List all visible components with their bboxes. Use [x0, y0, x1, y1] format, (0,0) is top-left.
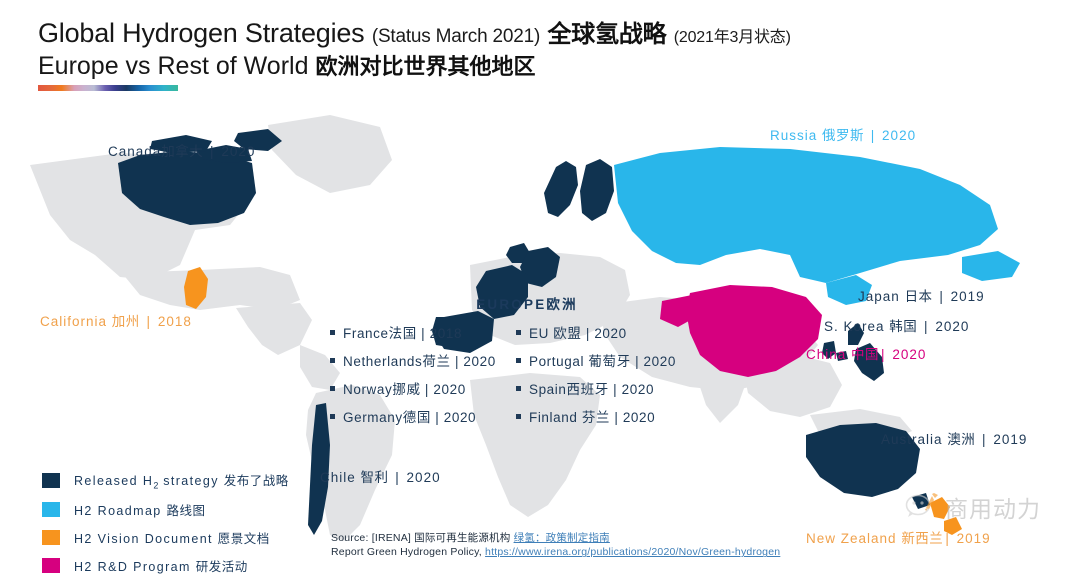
bullet-icon — [330, 330, 335, 335]
bullet-icon — [330, 414, 335, 419]
europe-column-1: France法国 | 2018 Netherlands荷兰 | 2020 Nor… — [330, 322, 506, 426]
map-label-japan: Japan 日本 | 2019 — [858, 285, 985, 305]
page-subtitle: Europe vs Rest of World 欧洲对比世界其他地区 — [38, 51, 1038, 81]
subtitle-cn: 欧洲对比世界其他地区 — [315, 54, 535, 79]
legend-swatch-vision — [42, 530, 60, 545]
europe-item-spain: Spain西班牙 | 2020 — [516, 378, 690, 398]
bullet-icon — [330, 358, 335, 363]
title-main-cn: 全球氢战略 — [547, 21, 666, 48]
legend-item-rnd-program: H2 R&D Program 研发活动 — [42, 556, 289, 575]
legend-item-released-strategy: Released H2 strategy 发布了战略 — [42, 470, 289, 491]
legend-swatch-roadmap — [42, 502, 60, 517]
source-line-1: Source: [IRENA] 国际可再生能源机构 绿氢：政策制定指南 — [331, 531, 780, 545]
map-label-south-korea: S. Korea 韩国 | 2020 — [824, 315, 969, 335]
europe-item-france: France法国 | 2018 — [330, 322, 506, 342]
map-label-china: China 中国| 2020 — [806, 343, 926, 363]
accent-gradient-bar — [38, 85, 178, 91]
europe-item-portugal: Portugal 葡萄牙 | 2020 — [516, 350, 690, 370]
map-region-roadmap — [614, 147, 1020, 305]
legend: Released H2 strategy 发布了战略 H2 Roadmap 路线… — [42, 470, 289, 584]
page-title: Global Hydrogen Strategies (Status March… — [38, 18, 1038, 50]
bullet-icon — [330, 386, 335, 391]
legend-item-roadmap: H2 Roadmap 路线图 — [42, 500, 289, 519]
map-label-california: California 加州 | 2018 — [40, 310, 192, 330]
map-label-new-zealand: New Zealand 新西兰| 2019 — [806, 527, 991, 547]
title-main-en: Global Hydrogen Strategies — [38, 18, 365, 48]
legend-swatch-rnd — [42, 558, 60, 573]
bullet-icon — [516, 386, 521, 391]
source-link-url[interactable]: https://www.irena.org/publications/2020/… — [485, 546, 780, 558]
europe-item-finland: Finland 芬兰 | 2020 — [516, 406, 690, 426]
map-label-russia: Russia 俄罗斯 | 2020 — [770, 124, 916, 144]
bullet-icon — [516, 414, 521, 419]
bullet-icon — [516, 330, 521, 335]
subtitle-en: Europe vs Rest of World — [38, 52, 308, 80]
map-label-canada: Canada加拿大 | 2020 — [108, 140, 255, 160]
title-block: Global Hydrogen Strategies (Status March… — [38, 18, 1038, 81]
europe-item-netherlands: Netherlands荷兰 | 2020 — [330, 350, 506, 370]
europe-item-eu: EU 欧盟 | 2020 — [516, 322, 690, 342]
europe-item-norway: Norway挪威 | 2020 — [330, 378, 506, 398]
title-status-cn: (2021年3月状态) — [674, 29, 791, 46]
legend-swatch-released — [42, 473, 60, 488]
map-label-chile: Chile 智利 | 2020 — [320, 466, 441, 486]
source-link-cn[interactable]: 绿氢：政策制定指南 — [514, 532, 610, 544]
legend-item-vision-document: H2 Vision Document 愿景文档 — [42, 528, 289, 547]
source-line-2: Report Green Hydrogen Policy, https://ww… — [331, 545, 780, 559]
bullet-icon — [516, 358, 521, 363]
map-label-australia: Australia 澳洲 | 2019 — [881, 428, 1027, 448]
slide-root: Global Hydrogen Strategies (Status March… — [0, 0, 1080, 564]
europe-heading: EUROPE欧洲 — [364, 293, 690, 313]
europe-list-panel: EUROPE欧洲 France法国 | 2018 Netherlands荷兰 |… — [330, 293, 690, 426]
source-citation: Source: [IRENA] 国际可再生能源机构 绿氢：政策制定指南 Repo… — [331, 531, 780, 560]
europe-column-2: EU 欧盟 | 2020 Portugal 葡萄牙 | 2020 Spain西班… — [516, 322, 690, 426]
title-status-en: (Status March 2021) — [372, 26, 540, 47]
europe-item-germany: Germany德国 | 2020 — [330, 406, 506, 426]
